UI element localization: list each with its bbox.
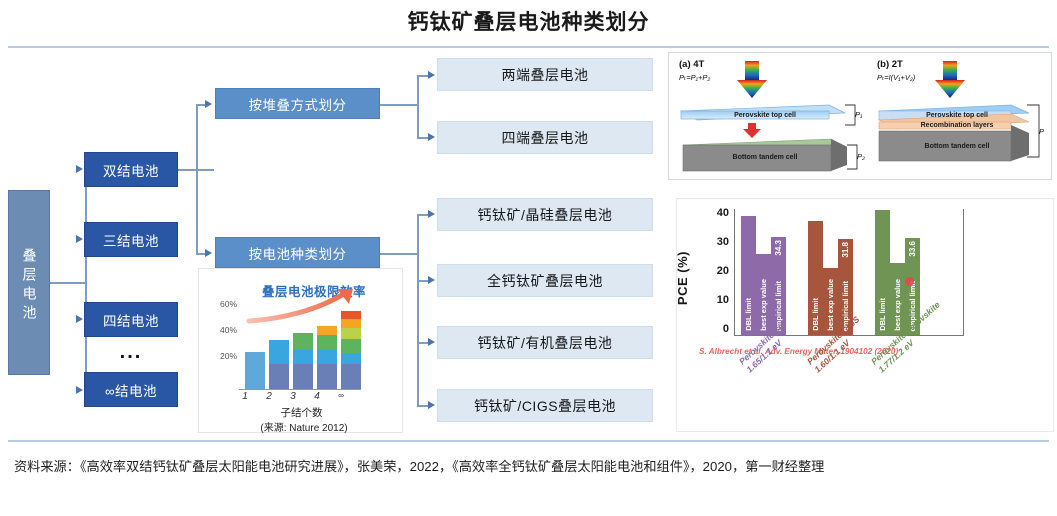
panel-a-layer-top: Perovskite top cell: [669, 112, 861, 119]
pce-bar-cigs-best: best exp value: [823, 268, 838, 335]
arrow-4t: [428, 133, 435, 141]
tandem-architecture-schematic: (a) 4T Pₜ=P₁+P₂: [668, 52, 1052, 180]
pce-yaxis-line: [734, 209, 735, 335]
arrow-allpero: [428, 276, 435, 284]
arrow-node1: [76, 165, 83, 173]
mini-xtick-1: 1: [235, 391, 255, 402]
connector-type-out: [380, 253, 418, 255]
mini-seg: [341, 353, 361, 364]
mini-seg: [293, 350, 313, 364]
flow-leaf-perovskite-cigs[interactable]: 钙钛矿/CIGS叠层电池: [437, 389, 653, 422]
flow-leaf-all-perovskite[interactable]: 全钙钛矿叠层电池: [437, 264, 653, 297]
mini-xtick-2: 2: [259, 391, 279, 402]
pce-bar-label: best exp value: [826, 279, 835, 331]
pce-bar-si-empirical: empirical limit 34.3: [771, 237, 786, 335]
connector-stack-split: [417, 75, 419, 138]
schematic-panel-2t: (b) 2T Pₜ=I(V₁+V₂): [861, 53, 1053, 181]
mini-seg: [317, 364, 337, 389]
mini-xaxis: [239, 389, 361, 390]
divider-bottom: [8, 440, 1049, 442]
mini-seg: [341, 339, 361, 353]
pce-ytick-20: 20: [705, 265, 729, 277]
connector-stack-out: [380, 104, 418, 106]
source-footer: 资料来源：《高效率双结钙钛矿叠层太阳能电池研究进展》，张美荣，2022，《高效率…: [14, 456, 1044, 478]
arrow-type-box: [205, 249, 212, 257]
pce-bar-si-best: best exp value: [756, 254, 771, 335]
flow-node-dual-junction[interactable]: 双结电池: [84, 152, 178, 187]
pce-citation: S. Albrecht et al. Adv. Energy Mater. 19…: [699, 347, 898, 356]
mini-seg: [341, 328, 361, 339]
arrow-si: [428, 210, 435, 218]
pce-ytick-40: 40: [705, 207, 729, 219]
mini-seg: [341, 319, 361, 328]
mini-bar-2: [269, 340, 289, 389]
pce-right-spine: [963, 209, 964, 335]
tandem-limit-efficiency-chart: 叠层电池极限效率 60% 40% 20%: [198, 268, 403, 433]
mini-xtick-inf: ∞: [331, 391, 351, 400]
slide-canvas: 钙钛矿叠层电池种类划分 叠层电池 双结电池 三结电池 四结电池 ∞结电池 ...…: [0, 0, 1057, 516]
schematic-panel-4t: (a) 4T Pₜ=P₁+P₂: [669, 53, 861, 181]
flow-node-triple-junction[interactable]: 三结电池: [84, 222, 178, 257]
mini-plot-area: [241, 305, 359, 389]
arrow-stack-box: [205, 100, 212, 108]
flow-node-by-stacking-method[interactable]: 按堆叠方式划分: [215, 88, 380, 119]
mini-bar-5: [341, 311, 361, 389]
mini-bar-4: [317, 326, 337, 389]
arrow-node3: [76, 315, 83, 323]
divider-top: [8, 46, 1049, 48]
mini-seg: [269, 364, 289, 389]
flow-leaf-four-terminal[interactable]: 四端叠层电池: [437, 121, 653, 154]
pce-bar-pero-dbl: DBL limit: [875, 210, 890, 335]
pce-value-label-si: 34.3: [774, 240, 783, 256]
mini-ytick-40: 40%: [211, 325, 237, 335]
arrow-cigs: [428, 401, 435, 409]
panel-b-layer-recomb: Recombination layers: [861, 122, 1053, 129]
arrow-2t: [428, 71, 435, 79]
panel-b-layer-top: Perovskite top cell: [861, 112, 1053, 119]
panel-b-brace-p: P: [1039, 127, 1044, 136]
connector-type-split: [417, 214, 419, 406]
panel-b-layer-bottom: Bottom tandem cell: [861, 143, 1053, 150]
mini-ytick-20: 20%: [211, 351, 237, 361]
flow-node-quad-junction[interactable]: 四结电池: [84, 302, 178, 337]
pce-bar-cigs-dbl: DBL limit: [808, 221, 823, 335]
mini-xaxis-label: 子结个数: [239, 405, 364, 420]
pce-value-label-cigs: 31.8: [841, 242, 850, 258]
pce-value-label-pero: 33.6: [908, 241, 917, 257]
mini-seg: [269, 340, 289, 364]
pce-bar-label: best exp value: [759, 279, 768, 331]
flow-leaf-perovskite-silicon[interactable]: 钙钛矿/晶硅叠层电池: [437, 198, 653, 231]
page-title: 钙钛矿叠层电池种类划分: [0, 6, 1057, 36]
pce-bar-si-dbl: DBL limit: [741, 216, 756, 335]
mini-seg: [317, 326, 337, 335]
pce-marker-dot: [905, 277, 914, 286]
flow-ellipsis: ...: [84, 340, 178, 364]
mini-seg: [341, 364, 361, 389]
connector-type-riser: [196, 169, 198, 253]
pce-bar-label: DBL limit: [878, 298, 887, 331]
connector-stack-riser: [196, 104, 198, 170]
pce-bar-pero-best: best exp value: [890, 263, 905, 335]
flow-leaf-perovskite-organic[interactable]: 钙钛矿/有机叠层电池: [437, 326, 653, 359]
pce-yaxis-label: PCE (%): [675, 251, 690, 305]
mini-ytick-60: 60%: [211, 299, 237, 309]
flow-root-node[interactable]: 叠层电池: [8, 190, 50, 375]
mini-seg: [245, 352, 265, 389]
connector-root-trunk: [50, 282, 86, 284]
mini-seg: [317, 350, 337, 364]
pce-ytick-0: 0: [705, 323, 729, 335]
mini-bar-1: [245, 352, 265, 389]
pce-limits-chart: PCE (%) 40 30 20 10 0 DBL limit best exp…: [676, 198, 1054, 432]
mini-seg: [341, 311, 361, 319]
mini-chart-source: (来源: Nature 2012): [229, 419, 379, 434]
mini-seg: [293, 333, 313, 350]
pce-bar-label: best exp value: [893, 279, 902, 331]
arrow-organic: [428, 338, 435, 346]
mini-xtick-4: 4: [307, 391, 327, 402]
mini-xtick-3: 3: [283, 391, 303, 402]
flow-node-by-cell-type[interactable]: 按电池种类划分: [215, 237, 380, 268]
flow-node-infinite-junction[interactable]: ∞结电池: [84, 372, 178, 407]
flow-leaf-two-terminal[interactable]: 两端叠层电池: [437, 58, 653, 91]
arrow-node2: [76, 235, 83, 243]
pce-bar-label: DBL limit: [744, 298, 753, 331]
mini-seg: [293, 364, 313, 389]
mini-bar-3: [293, 333, 313, 389]
panel-a-layer-bottom: Bottom tandem cell: [669, 154, 861, 161]
pce-bar-label: DBL limit: [811, 298, 820, 331]
arrow-node4: [76, 386, 83, 394]
mini-seg: [317, 335, 337, 350]
pce-ytick-30: 30: [705, 236, 729, 248]
pce-ytick-10: 10: [705, 294, 729, 306]
